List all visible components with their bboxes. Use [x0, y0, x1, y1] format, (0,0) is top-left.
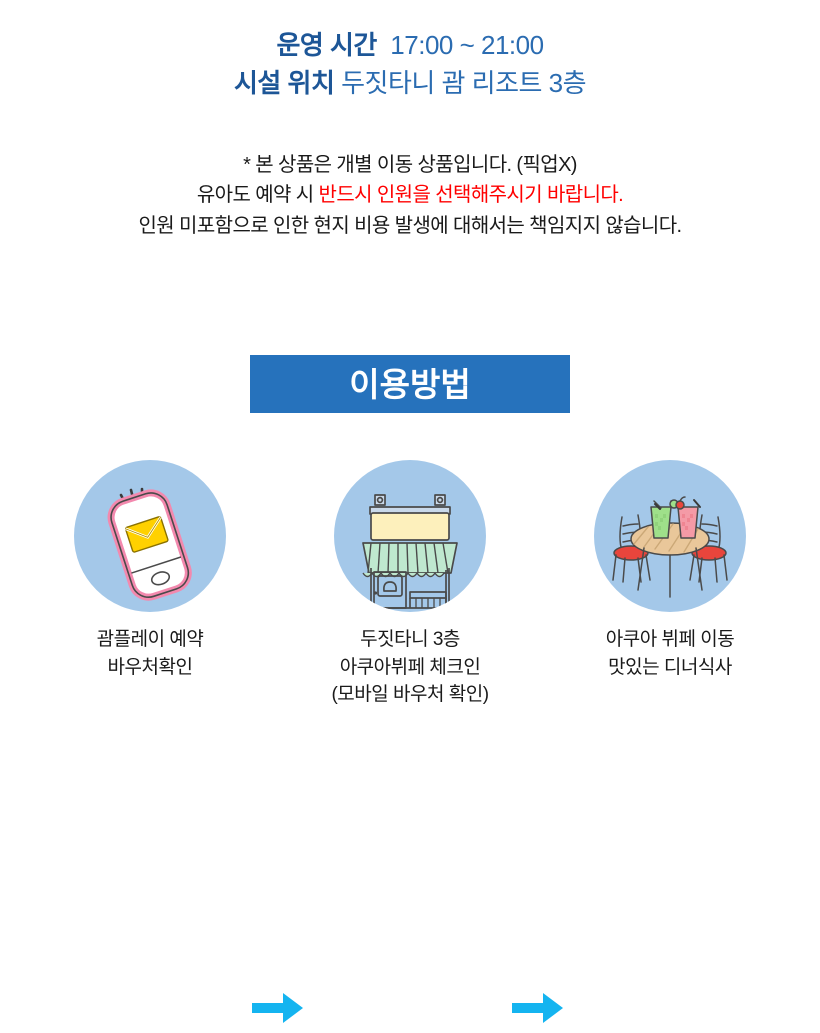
step-arrow-1: [250, 988, 306, 1028]
notice-line-2-emphasis: 반드시 인원을 선택해주시기 바랍니다.: [319, 184, 624, 206]
step-2-circle: [334, 460, 486, 612]
notice-line-3: 인원 미포함으로 인한 현지 비용 발생에 대해서는 책임지지 않습니다.: [0, 211, 820, 241]
usage-method-banner: 이용방법: [250, 355, 570, 413]
facility-location-label: 시설 위치: [234, 68, 334, 98]
storefront-checkin-icon: [334, 460, 486, 612]
step-2-caption-line-1: 두짓타니 3층: [300, 626, 520, 654]
step-1-caption-line-1: 괌플레이 예약: [40, 626, 260, 654]
step-arrow-2: [510, 988, 566, 1028]
step-1-circle: [74, 460, 226, 612]
step-3-circle: [594, 460, 746, 612]
promo-page: 운영 시간 17:00 ~ 21:00 시설 위치 두짓타니 괌 리조트 3층 …: [0, 0, 820, 790]
step-3: 아쿠아 뷔페 이동 맛있는 디너식사: [560, 460, 780, 681]
step-2-caption: 두짓타니 3층 아쿠아뷔페 체크인 (모바일 바우처 확인): [300, 626, 520, 709]
notice-line-1: * 본 상품은 개별 이동 상품입니다. (픽업X): [0, 150, 820, 180]
operating-hours-value: [377, 30, 390, 60]
facility-info-block: 운영 시간 17:00 ~ 21:00 시설 위치 두짓타니 괌 리조트 3층: [0, 28, 820, 101]
notice-block: * 본 상품은 개별 이동 상품입니다. (픽업X) 유아도 예약 시 반드시 …: [0, 150, 820, 241]
step-3-caption-line-1: 아쿠아 뷔페 이동: [560, 626, 780, 654]
notice-line-2-prefix: 유아도 예약 시: [197, 184, 319, 206]
table-drinks-dinner-icon: [594, 460, 746, 612]
step-2-caption-line-2: 아쿠아뷔페 체크인: [300, 654, 520, 682]
facility-location-value: 두짓타니 괌 리조트 3층: [341, 68, 586, 98]
usage-steps: 괌플레이 예약 바우처확인: [0, 460, 820, 760]
operating-hours-label: 운영 시간: [276, 30, 376, 60]
operating-hours-time: 17:00 ~ 21:00: [390, 30, 543, 60]
step-3-caption-line-2: 맛있는 디너식사: [560, 654, 780, 682]
usage-method-title: 이용방법: [349, 368, 470, 401]
facility-location-line: 시설 위치 두짓타니 괌 리조트 3층: [0, 66, 820, 100]
step-2-caption-line-3: (모바일 바우처 확인): [300, 681, 520, 709]
operating-hours-line: 운영 시간 17:00 ~ 21:00: [0, 28, 820, 62]
step-1-caption-line-2: 바우처확인: [40, 654, 260, 682]
step-1-caption: 괌플레이 예약 바우처확인: [40, 626, 260, 681]
step-3-caption: 아쿠아 뷔페 이동 맛있는 디너식사: [560, 626, 780, 681]
arrow-right-icon: [510, 988, 566, 1028]
arrow-right-icon: [250, 988, 306, 1028]
notice-line-2: 유아도 예약 시 반드시 인원을 선택해주시기 바랍니다.: [0, 180, 820, 210]
step-1: 괌플레이 예약 바우처확인: [40, 460, 260, 681]
mobile-voucher-icon: [74, 460, 226, 612]
step-2: 두짓타니 3층 아쿠아뷔페 체크인 (모바일 바우처 확인): [300, 460, 520, 709]
